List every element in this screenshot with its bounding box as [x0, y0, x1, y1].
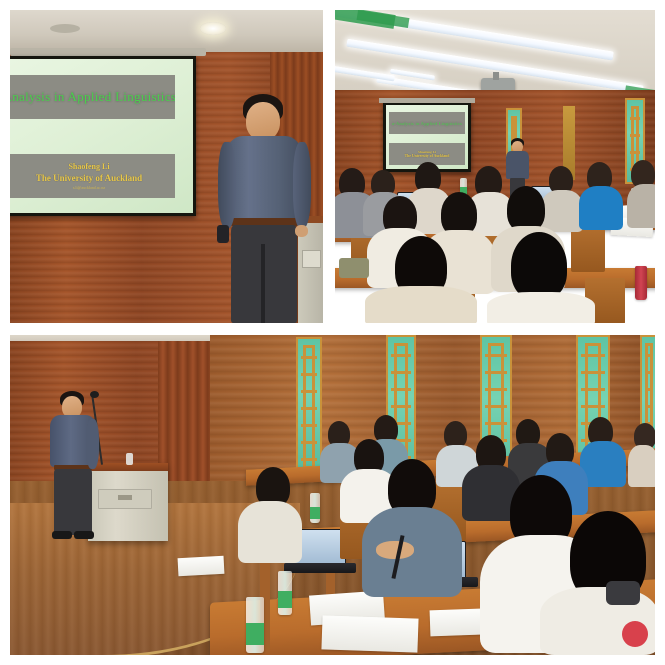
- projection-screen: a-Analysis in Applied Linguistics Shaofe…: [10, 56, 196, 216]
- attendee-head: [511, 232, 567, 300]
- presenter-trousers: [54, 469, 92, 535]
- attendee-body: [627, 184, 655, 228]
- presenter-clicker: [217, 225, 229, 243]
- photo-collage: a-Analysis in Applied Linguistics Shaofe…: [0, 0, 665, 665]
- presenter-left-arm: [218, 142, 236, 228]
- thermos-flask: [635, 266, 647, 300]
- scene-audience-from-back: a-Analysis in Applied Linguistics Shaofe…: [335, 10, 655, 323]
- presenter-shoe: [52, 531, 72, 539]
- screen-housing: [10, 48, 206, 56]
- photo-hall-wide-view: [10, 335, 655, 655]
- scene-hall-wide-view: [10, 335, 655, 655]
- attendee-body: [541, 190, 583, 232]
- bottle-label: [246, 623, 264, 645]
- slide-affiliation: The University of Auckland: [36, 173, 142, 183]
- screen-housing: [379, 98, 475, 103]
- slide-affiliation: The University of Auckland: [405, 154, 450, 158]
- photo-frame-hall-wide-view: [8, 333, 657, 657]
- slide-title-band: a-Analysis in Applied Linguistics: [10, 75, 175, 119]
- lattice-panel: [296, 337, 322, 477]
- projection-screen-surface: a-Analysis in Applied Linguistics Shaofe…: [10, 59, 193, 213]
- slide-byline-band: Shaofeng Li The University of Auckland s…: [10, 154, 175, 198]
- attendee-body: [487, 292, 595, 323]
- laptop-base: [284, 563, 356, 573]
- presenter-right-arm: [293, 142, 311, 228]
- presenter-arm: [86, 419, 99, 469]
- slide-email: s.li@auckland.ac.nz: [73, 185, 105, 190]
- water-bottle: [278, 571, 292, 615]
- water-bottle: [310, 493, 320, 523]
- presenter-shirt: [226, 136, 302, 222]
- presenter-trouser-crease: [261, 244, 265, 323]
- bag: [339, 258, 369, 278]
- projector-mount: [493, 72, 499, 80]
- attendee-body: [628, 445, 655, 487]
- slide-title-band: a-Analysis in Applied Linguistics: [389, 112, 465, 134]
- presenter-shoe: [74, 531, 94, 539]
- notebook-page: [321, 615, 418, 652]
- bottle-label: [278, 591, 292, 608]
- attendee-body: [365, 286, 477, 323]
- water-bottle: [246, 597, 264, 653]
- attendee-body: [579, 186, 623, 230]
- water-bottle-podium: [126, 453, 133, 465]
- photo-frame-presenter-standing: a-Analysis in Applied Linguistics Shaofe…: [8, 8, 325, 325]
- presenter-figure: [215, 94, 320, 323]
- presenter-right-hand: [295, 225, 308, 237]
- attendee-head: [444, 421, 467, 448]
- presenter-shirt: [506, 151, 529, 179]
- attendee-body: [238, 501, 302, 563]
- bottle-label: [310, 507, 320, 519]
- podium-handle: [118, 495, 132, 500]
- ceiling-downlight: [200, 22, 226, 35]
- tshirt-logo: [622, 621, 648, 647]
- photo-audience-from-back: a-Analysis in Applied Linguistics Shaofe…: [335, 10, 655, 323]
- photo-presenter-standing: a-Analysis in Applied Linguistics Shaofe…: [10, 10, 323, 323]
- scene-presenter-standing: a-Analysis in Applied Linguistics Shaofe…: [10, 10, 323, 323]
- slide-title-text: a-Analysis in Applied Linguistics: [10, 89, 175, 105]
- notebook-page: [178, 556, 225, 576]
- presenter-head: [246, 102, 280, 140]
- projection-screen-surface: a-Analysis in Applied Linguistics Shaofe…: [386, 105, 468, 169]
- slide-title-text: a-Analysis in Applied Linguistics: [392, 121, 462, 126]
- ceiling-vent: [50, 24, 80, 33]
- wristwatch: [606, 581, 640, 605]
- photo-frame-audience-from-back: a-Analysis in Applied Linguistics Shaofe…: [333, 8, 657, 325]
- slide-presenter-name: Shaofeng Li: [68, 162, 109, 171]
- presenter-figure-podium: [48, 391, 102, 541]
